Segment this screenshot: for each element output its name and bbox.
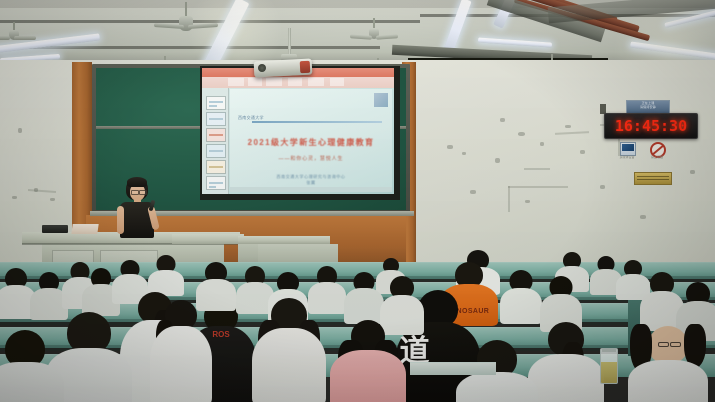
bottle-contents — [601, 362, 617, 383]
right-desk-top — [238, 236, 330, 244]
wood-trim-column — [72, 62, 92, 234]
projection-screen[interactable]: 西南交通大学 2021级大学新生心理健康教育 ——和你心灵，慧悦人生 西南交通大… — [202, 68, 394, 194]
slide-organization: 西南交通大学心理研究与咨询中心 张翼 — [230, 174, 392, 186]
side-desk-top — [172, 234, 244, 244]
projector-side-panel — [300, 61, 311, 74]
ribbon-tab[interactable] — [266, 78, 282, 86]
student — [0, 330, 64, 402]
student-torso — [0, 362, 64, 402]
student-glasses-frame — [658, 342, 669, 347]
clock-header-text: 正在上课 请保持安静 — [627, 101, 669, 110]
presenter-glasses — [131, 190, 139, 195]
student-torso — [344, 288, 384, 324]
multimedia-sign-caption: 多媒体设备 — [612, 155, 642, 159]
slide-canvas: 西南交通大学 2021级大学新生心理健康教育 ——和你心灵，慧悦人生 西南交通大… — [230, 89, 392, 192]
ceiling-fan — [168, 2, 204, 38]
presenter-arm — [117, 206, 124, 234]
student-long-hair — [252, 298, 326, 402]
multimedia-sign — [620, 142, 636, 156]
slide-thumbnail[interactable] — [206, 176, 226, 190]
slide-thumbnail[interactable] — [206, 112, 226, 126]
clock-header-plate: 正在上课 请保持安静 — [626, 100, 670, 114]
projector-lens — [258, 64, 266, 72]
projector-mount-pole — [288, 28, 291, 56]
ribbon-tab[interactable] — [308, 78, 324, 86]
student — [540, 276, 582, 328]
student — [500, 270, 542, 320]
student-torso — [628, 360, 708, 402]
shirt-graphic-text: ROS — [212, 330, 229, 339]
student — [344, 272, 384, 320]
slide-thumbnail[interactable] — [206, 144, 226, 158]
slide-thumbnail-panel[interactable] — [202, 88, 229, 194]
ribbon-tab[interactable] — [228, 78, 244, 86]
ceiling-fan — [0, 22, 28, 50]
student-torso — [500, 288, 542, 324]
powerpoint-status-bar — [230, 187, 392, 192]
laptop-on-desk — [42, 225, 68, 233]
ribbon-tab[interactable] — [330, 78, 344, 86]
papers-on-desk — [71, 224, 98, 234]
lecture-hall-photo: 西南交通大学 2021级大学新生心理健康教育 ——和你心灵，慧悦人生 西南交通大… — [0, 0, 715, 402]
slide-thumbnail[interactable] — [206, 96, 226, 110]
tube-light — [630, 41, 715, 60]
student-torso — [150, 326, 212, 402]
student-ponytail — [150, 300, 212, 402]
student-glasses-frame — [670, 342, 681, 347]
clock-time: 16:45:30 — [615, 117, 687, 135]
desk-surface — [410, 362, 496, 375]
presenter-hair-fringe — [127, 177, 147, 187]
student-torso — [330, 350, 406, 402]
water-bottle — [600, 348, 618, 384]
student-pink-shirt — [330, 320, 406, 402]
ceiling-fan — [360, 18, 388, 46]
student-torso — [252, 328, 326, 402]
ribbon-tab[interactable] — [288, 78, 302, 86]
student-glasses — [628, 326, 708, 402]
presenter-glasses — [139, 190, 147, 195]
slide-title: 2021级大学新生心理健康教育 — [230, 137, 392, 148]
slide-thumbnail[interactable] — [206, 128, 226, 142]
slide-thumbnail[interactable] — [206, 160, 226, 174]
slide-corner-logo — [374, 93, 388, 107]
student-ponytail — [528, 322, 604, 402]
no-smoking-caption: 禁止吸烟 — [642, 155, 672, 159]
student-torso — [456, 372, 538, 402]
ribbon-tab[interactable] — [248, 78, 262, 86]
bottle-cap — [602, 349, 616, 352]
slide-subtitle: ——和你心灵，慧悦人生 — [230, 155, 392, 162]
slide-divider — [252, 121, 382, 123]
wall-plaque — [634, 172, 672, 185]
digital-wall-clock: 16:45:30 — [604, 113, 698, 139]
student-torso — [528, 354, 604, 402]
student — [148, 255, 184, 293]
right-wall — [400, 60, 715, 265]
tube-light — [478, 37, 552, 47]
